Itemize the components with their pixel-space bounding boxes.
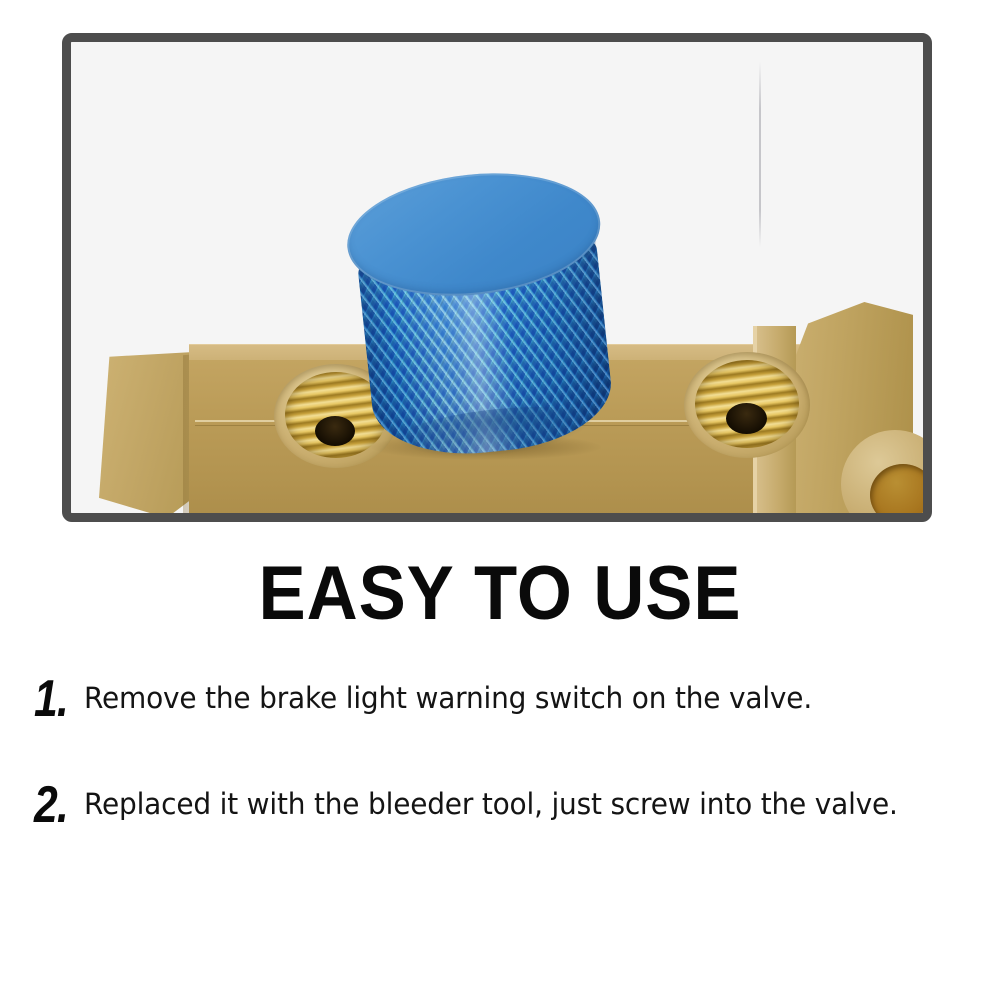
page-title: EASY TO USE — [35, 556, 965, 632]
product-photo-frame — [62, 33, 932, 522]
product-photo — [71, 42, 923, 513]
threaded-port-right-hole — [726, 403, 767, 434]
product-infographic-page: EASY TO USE 1. Remove the brake light wa… — [0, 0, 1000, 1000]
step-number: 2. — [34, 782, 72, 830]
step-number: 1. — [34, 676, 72, 724]
list-item: 2. Replaced it with the bleeder tool, ju… — [34, 782, 984, 830]
threaded-port-left-hole — [315, 416, 355, 446]
photo-scan-line-artifact — [759, 62, 761, 247]
step-text: Replaced it with the bleeder tool, just … — [84, 782, 953, 820]
instruction-step-list: 1. Remove the brake light warning switch… — [34, 676, 984, 888]
step-text: Remove the brake light warning switch on… — [84, 676, 953, 714]
list-item: 1. Remove the brake light warning switch… — [34, 676, 984, 724]
blue-knurled-bleeder-knob — [335, 161, 631, 465]
